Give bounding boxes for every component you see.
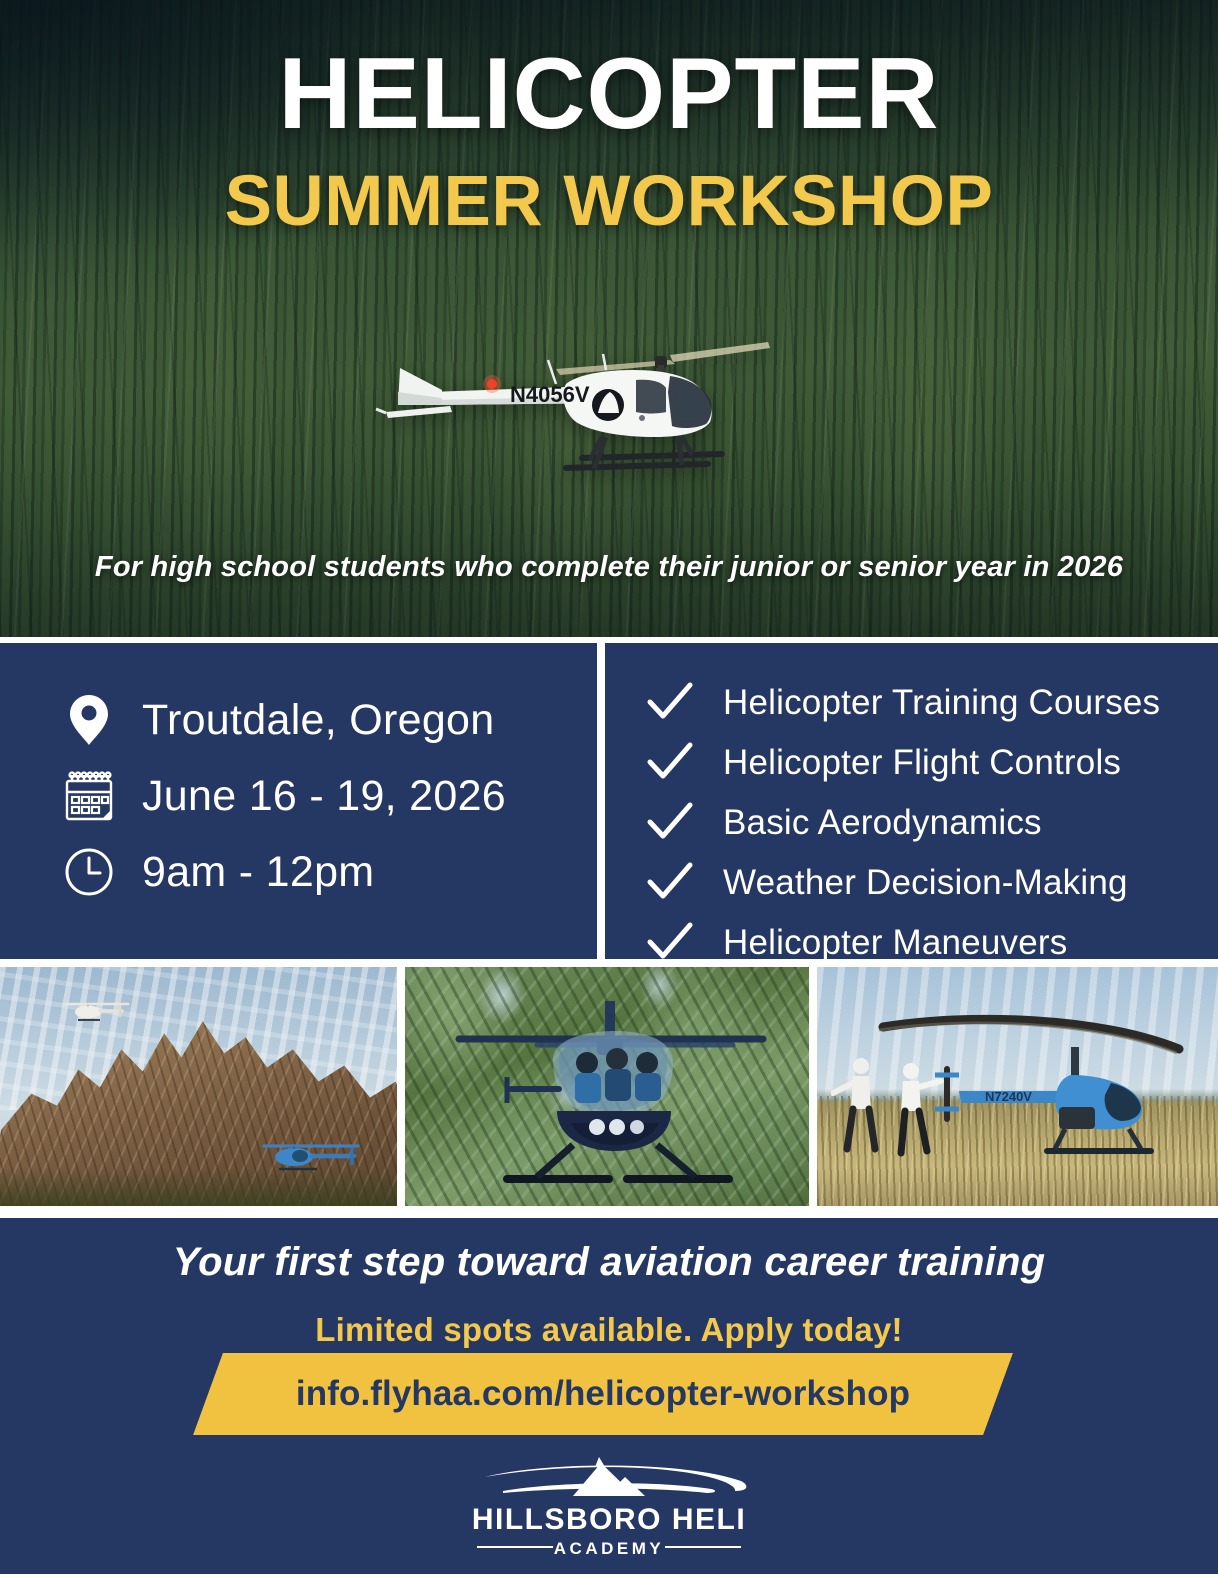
people-walking-icon	[831, 1053, 951, 1163]
curriculum-item-label: Helicopter Flight Controls	[723, 745, 1121, 780]
check-icon	[643, 799, 697, 845]
curriculum-item-label: Helicopter Training Courses	[723, 685, 1160, 720]
detail-location-text: Troutdale, Oregon	[142, 699, 494, 742]
check-icon	[643, 679, 697, 725]
curriculum-item-label: Weather Decision-Making	[723, 865, 1128, 900]
gallery-photo-2	[405, 967, 809, 1206]
poster-title: HELICOPTER	[0, 44, 1218, 145]
detail-row-date: June 16 - 19, 2026	[62, 769, 506, 823]
curriculum-item: Basic Aerodynamics	[643, 799, 1160, 845]
check-icon	[643, 859, 697, 905]
hero-photo: N4056V HELICOPTER SUMMER WORKSHOP For hi…	[0, 0, 1218, 637]
location-pin-icon	[62, 693, 116, 747]
svg-text:N4056V: N4056V	[510, 382, 590, 407]
mountain-swoosh-icon: HILLSBORO HELI ACADEMY	[449, 1455, 769, 1565]
hero-tagline: For high school students who complete th…	[0, 551, 1218, 584]
curriculum-item: Helicopter Maneuvers	[643, 919, 1160, 965]
curriculum-item: Weather Decision-Making	[643, 859, 1160, 905]
workshop-url-link[interactable]: info.flyhaa.com/helicopter-workshop	[208, 1353, 998, 1435]
logo-line2: ACADEMY	[554, 1539, 664, 1558]
event-details-panel: Troutdale, Oregon	[0, 643, 597, 959]
flying-helicopter-icon	[58, 995, 134, 1025]
curriculum-item-label: Basic Aerodynamics	[723, 805, 1042, 840]
gallery-photo-1	[0, 967, 397, 1206]
curriculum-item-label: Helicopter Maneuvers	[723, 925, 1067, 960]
check-icon	[643, 919, 697, 965]
calendar-icon	[62, 769, 116, 823]
flyer-poster: N4056V HELICOPTER SUMMER WORKSHOP For hi…	[0, 0, 1218, 1578]
curriculum-list: Helicopter Training Courses Helicopter F…	[643, 679, 1160, 965]
cta-subheadline: Limited spots available. Apply today!	[0, 1311, 1218, 1349]
clock-icon	[62, 845, 116, 899]
bottom-edge	[0, 1574, 1218, 1578]
photo-gallery: N7240V	[0, 967, 1218, 1206]
check-icon	[643, 739, 697, 785]
gallery-photo-3: N7240V	[817, 967, 1218, 1206]
front-view-helicopter-icon	[441, 993, 781, 1193]
hero-helicopter-icon: N4056V	[370, 272, 790, 487]
logo-line1: HILLSBORO HELI	[472, 1503, 746, 1536]
poster-subtitle: SUMMER WORKSHOP	[0, 166, 1218, 237]
hillsboro-heli-academy-logo: HILLSBORO HELI ACADEMY	[449, 1455, 769, 1565]
landed-helicopter-icon	[258, 1135, 368, 1177]
cta-headline: Your first step toward aviation career t…	[0, 1240, 1218, 1285]
curriculum-item: Helicopter Training Courses	[643, 679, 1160, 725]
curriculum-item: Helicopter Flight Controls	[643, 739, 1160, 785]
event-details-list: Troutdale, Oregon	[62, 693, 506, 899]
info-band: Troutdale, Oregon	[0, 643, 1218, 959]
detail-row-location: Troutdale, Oregon	[62, 693, 506, 747]
detail-date-text: June 16 - 19, 2026	[142, 775, 506, 818]
svg-text:N7240V: N7240V	[985, 1089, 1032, 1104]
detail-row-time: 9am - 12pm	[62, 845, 506, 899]
curriculum-panel: Helicopter Training Courses Helicopter F…	[605, 643, 1218, 959]
detail-time-text: 9am - 12pm	[142, 851, 374, 894]
